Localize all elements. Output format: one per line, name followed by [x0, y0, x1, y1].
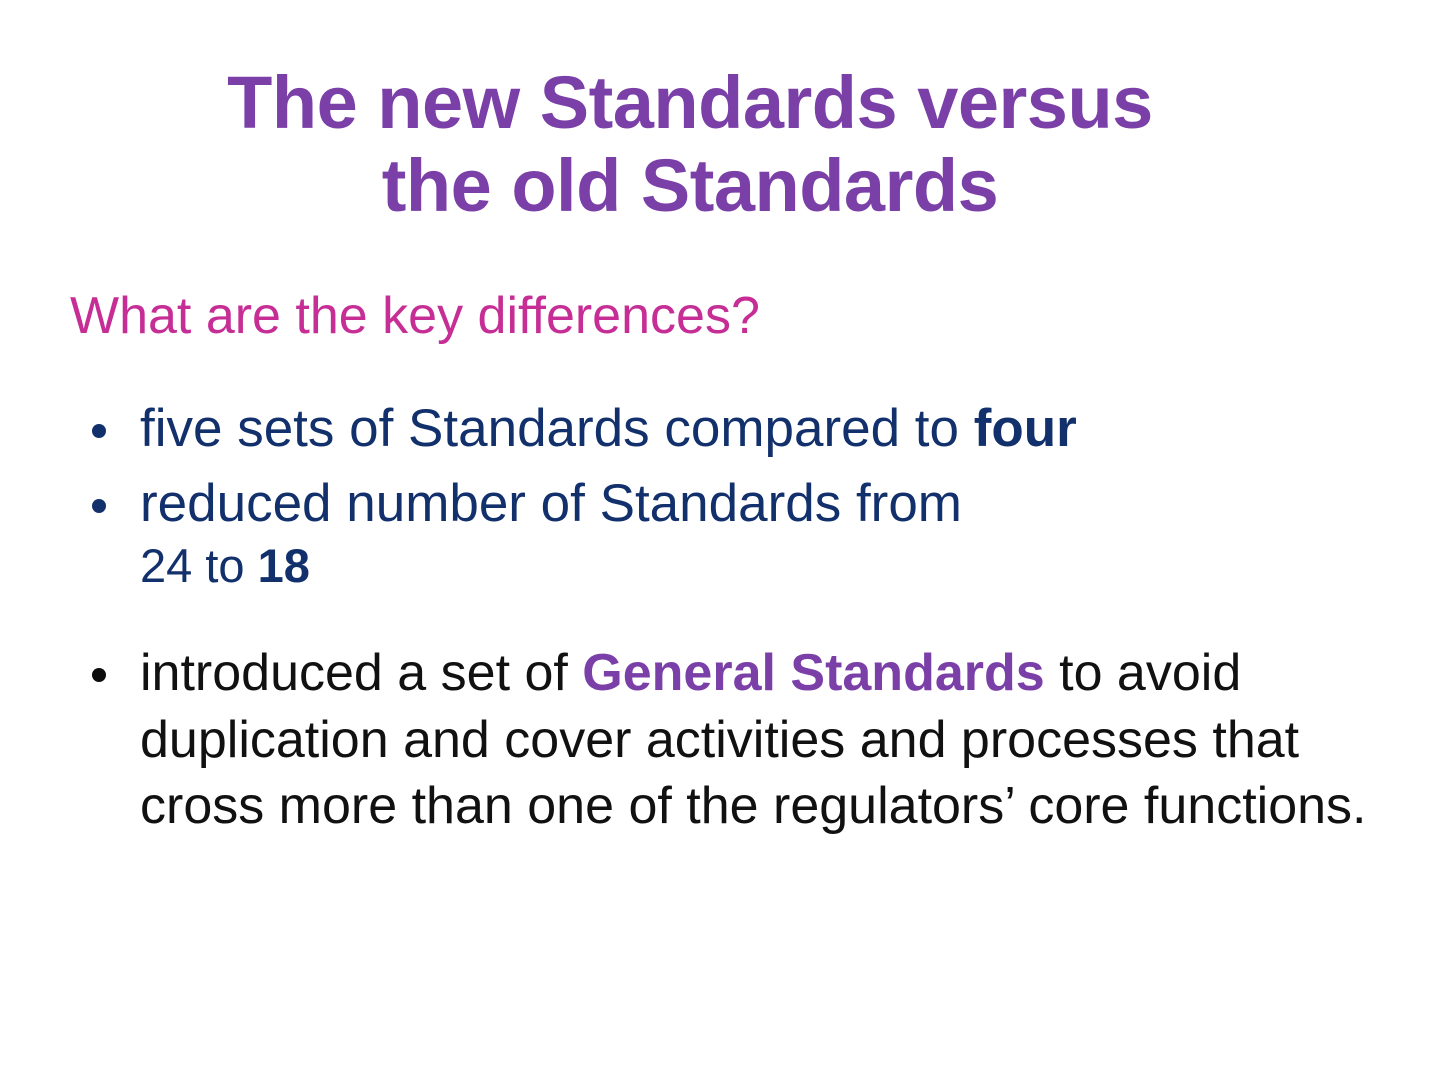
bullet-list: five sets of Standards compared to four …: [78, 398, 1398, 840]
list-item: introduced a set of General Standards to…: [78, 640, 1398, 840]
bullet-3-segment-2-emphasis: General Standards: [582, 644, 1044, 702]
slide-title: The new Standards versus the old Standar…: [0, 62, 1440, 228]
list-item: five sets of Standards compared to four: [78, 398, 1398, 459]
bullet-dot-icon: [92, 499, 106, 513]
slide-title-line-2: the old Standards: [0, 145, 1380, 228]
slide-title-line-1: The new Standards versus: [0, 62, 1380, 145]
list-item-text: five sets of Standards compared to four: [140, 398, 1398, 459]
bullet-2-segment-2: 24 to: [140, 539, 258, 592]
bullet-1-segment-1: five sets of Standards compared to: [140, 399, 974, 458]
slide-subtitle: What are the key differences?: [70, 288, 760, 345]
list-item: reduced number of Standards from24 to 18: [78, 473, 1398, 596]
bullet-dot-icon: [92, 424, 106, 438]
bullet-dot-icon: [92, 668, 106, 682]
bullet-2-segment-1: reduced number of Standards from: [140, 474, 962, 533]
list-item-text: reduced number of Standards from24 to 18: [140, 473, 1398, 596]
bullet-1-segment-2-emphasis: four: [974, 399, 1077, 458]
slide-canvas: The new Standards versus the old Standar…: [0, 0, 1440, 1080]
bullet-3-segment-1: introduced a set of: [140, 644, 582, 702]
list-item-text: introduced a set of General Standards to…: [140, 640, 1395, 840]
bullet-2-line-2: 24 to 18: [140, 535, 1398, 596]
bullet-2-segment-3-emphasis: 18: [258, 539, 310, 592]
